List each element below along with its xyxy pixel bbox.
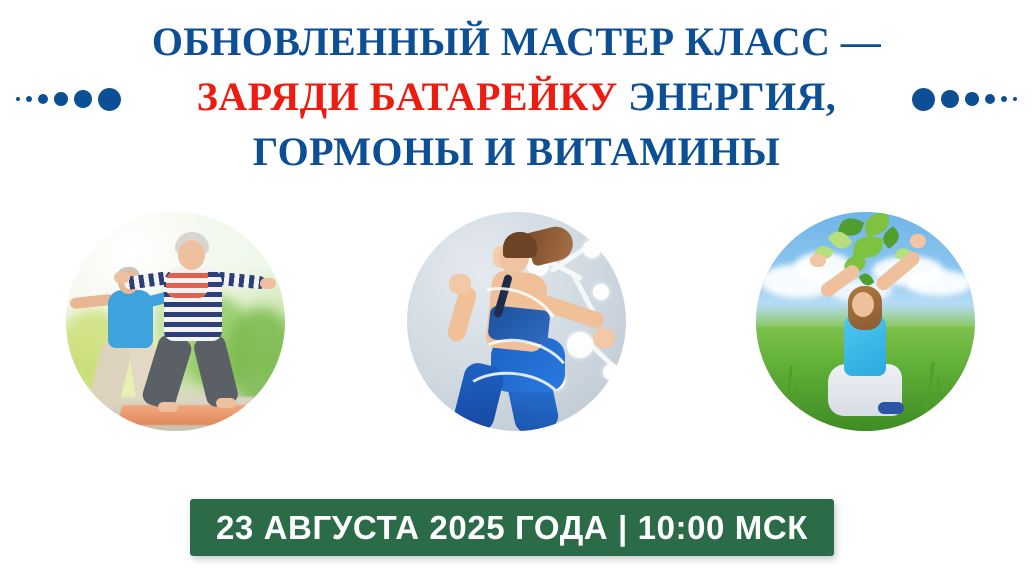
decorative-dots-left: [16, 86, 121, 112]
dot-icon: [941, 90, 959, 108]
yoga-mat: [118, 405, 272, 425]
dot-icon: [74, 90, 92, 108]
banner-date-time-text: 23 АВГУСТА 2025 ГОДА | 10:00 МСК: [216, 509, 808, 547]
dot-icon: [985, 94, 995, 104]
woman-foot-left: [158, 402, 178, 412]
molecule-node: [583, 240, 601, 258]
title-line-1: ОБНОВЛЕННЫЙ МАСТЕР КЛАСС —: [0, 14, 1033, 69]
title-highlight-charge-battery: ЗАРЯДИ БАТАРЕЙКУ: [197, 74, 618, 119]
photo-scene: [407, 212, 626, 431]
grass-blade: [922, 361, 935, 431]
photo-scene: [66, 212, 285, 431]
photo-running-woman-molecule: [407, 212, 626, 431]
runner-hand-back: [593, 328, 615, 348]
title-line-3: ГОРМОНЫ И ВИТАМИНЫ: [0, 124, 1033, 179]
runner-fist: [449, 274, 471, 294]
dot-icon: [912, 88, 935, 111]
dot-icon: [965, 92, 979, 106]
dot-icon: [98, 88, 121, 111]
molecule-node: [603, 364, 619, 380]
dot-icon: [16, 97, 20, 101]
meadow-woman-head: [852, 292, 874, 317]
photo-scene: [756, 212, 975, 431]
title-line-2: ЗАРЯДИ БАТАРЕЙКУ ЭНЕРГИЯ,: [0, 69, 1033, 124]
runner-hair: [503, 232, 537, 258]
photo-woman-meadow-greens: [756, 212, 975, 431]
dot-icon: [26, 96, 32, 102]
molecule-node: [593, 284, 609, 300]
photo-senior-couple-yoga: [66, 212, 285, 431]
meadow-woman-shoe: [878, 402, 904, 414]
date-banner: 23 АВГУСТА 2025 ГОДА | 10:00 МСК: [190, 499, 842, 559]
molecule-node: [567, 332, 593, 358]
dot-icon: [1001, 96, 1007, 102]
title-line-2-rest: ЭНЕРГИЯ,: [618, 74, 836, 119]
grass-blade: [784, 365, 793, 431]
woman-shirt-chest: [166, 268, 208, 298]
woman-hand-left: [114, 272, 130, 283]
grass-blade: [960, 370, 974, 431]
banner-body: 23 АВГУСТА 2025 ГОДА | 10:00 МСК: [190, 499, 834, 556]
photo-row: [0, 212, 1033, 432]
grass-blade: [936, 377, 945, 431]
meadow-woman-hand-right: [910, 234, 926, 248]
cloud-shape: [906, 270, 972, 296]
woman-hand-right: [260, 278, 276, 289]
woman-foot-right: [216, 398, 236, 408]
meadow-woman-hand-left: [810, 254, 826, 267]
dot-icon: [1013, 97, 1017, 101]
woman-head: [178, 240, 205, 270]
grass-blade: [794, 388, 805, 431]
dot-icon: [38, 94, 48, 104]
dot-icon: [54, 92, 68, 106]
decorative-dots-right: [912, 86, 1017, 112]
grass-blade: [760, 379, 769, 431]
man-torso: [108, 290, 153, 348]
page-title: ОБНОВЛЕННЫЙ МАСТЕР КЛАСС — ЗАРЯДИ БАТАРЕ…: [0, 14, 1033, 179]
